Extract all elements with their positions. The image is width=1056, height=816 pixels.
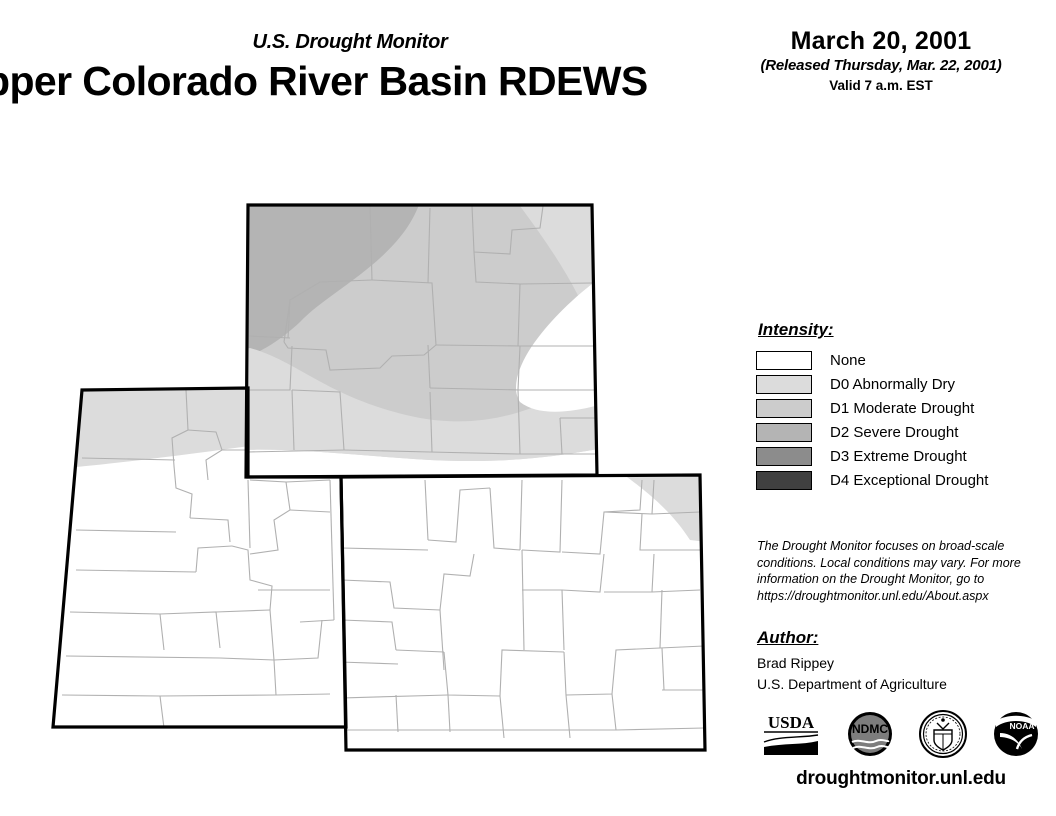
valid-time: Valid 7 a.m. EST xyxy=(706,78,1056,93)
page-header: U.S. Drought Monitor Upper Colorado Rive… xyxy=(0,0,1056,130)
legend-item-d4: D4 Exceptional Drought xyxy=(756,468,1046,492)
release-date: (Released Thursday, Mar. 22, 2001) xyxy=(706,57,1056,74)
legend-swatch-none xyxy=(756,351,812,370)
legend-swatch-d0 xyxy=(756,375,812,394)
map-svg xyxy=(0,150,740,790)
legend-swatch-d4 xyxy=(756,471,812,490)
legend-label-d2: D2 Severe Drought xyxy=(830,424,958,441)
legend-label-d1: D1 Moderate Drought xyxy=(830,400,974,417)
legend-label-d3: D3 Extreme Drought xyxy=(830,448,967,465)
state-wyoming-fill xyxy=(240,198,615,488)
map-date: March 20, 2001 xyxy=(706,28,1056,54)
legend-label-none: None xyxy=(830,352,866,369)
website-url: droughtmonitor.unl.edu xyxy=(756,768,1046,790)
usda-logo: USDA xyxy=(760,711,822,757)
page-title: Upper Colorado River Basin RDEWS xyxy=(0,62,648,105)
co-none-region xyxy=(335,468,715,758)
svg-text:USDA: USDA xyxy=(768,713,815,732)
main-title-container: Upper Colorado River Basin RDEWS xyxy=(0,62,706,110)
legend-panel: Intensity: None D0 Abnormally Dry D1 Mod… xyxy=(756,320,1046,492)
legend-label-d4: D4 Exceptional Drought xyxy=(830,472,988,489)
legend-item-d0: D0 Abnormally Dry xyxy=(756,372,1046,396)
drought-map xyxy=(0,150,740,790)
unl-seal-logo xyxy=(919,710,967,758)
svg-text:NOAA: NOAA xyxy=(1009,721,1034,731)
state-colorado-fill xyxy=(335,468,715,758)
legend-item-d2: D2 Severe Drought xyxy=(756,420,1046,444)
legend-item-d3: D3 Extreme Drought xyxy=(756,444,1046,468)
legend-item-none: None xyxy=(756,348,1046,372)
author-heading: Author: xyxy=(757,628,818,648)
legend-swatch-d2 xyxy=(756,423,812,442)
author-name: Brad Rippey xyxy=(757,653,834,673)
legend-title: Intensity: xyxy=(758,320,1046,340)
disclaimer-text: The Drought Monitor focuses on broad-sca… xyxy=(757,538,1025,604)
legend-label-d0: D0 Abnormally Dry xyxy=(830,376,955,393)
noaa-logo: NOAA xyxy=(992,711,1040,757)
drought-monitor-subtitle: U.S. Drought Monitor xyxy=(0,31,700,54)
legend-swatch-d3 xyxy=(756,447,812,466)
author-organization: U.S. Department of Agriculture xyxy=(757,674,947,694)
legend-swatch-d1 xyxy=(756,399,812,418)
date-block: March 20, 2001 (Released Thursday, Mar. … xyxy=(706,28,1056,93)
agency-logos: USDA NDMC NOAA xyxy=(760,705,1040,763)
legend-item-d1: D1 Moderate Drought xyxy=(756,396,1046,420)
ndmc-logo: NDMC xyxy=(847,711,893,757)
